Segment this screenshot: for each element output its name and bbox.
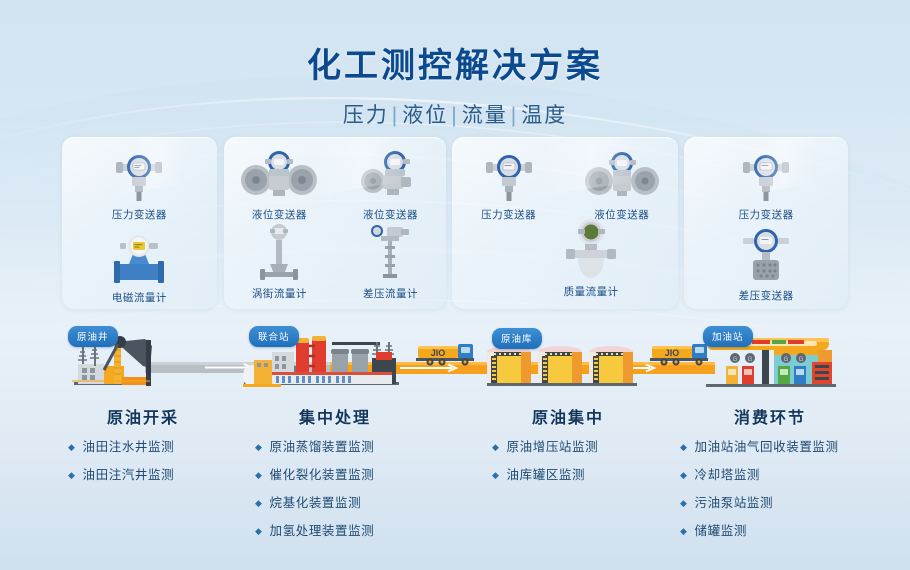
list-item-label: 加氢处理装置监测 [270,524,375,538]
product-label: 涡街流量计 [227,286,331,301]
subtitle-part-flow: 流量 [462,104,508,127]
bullet-marker-icon: ◆ [255,470,263,480]
product-item[interactable]: 液位变送器 [338,147,442,222]
badge-oil-depot: 原油库 [492,328,542,349]
product-label: 差压流量计 [338,286,442,301]
svg-text:G: G [733,357,738,363]
page-subtitle: 压力|液位|流量|温度 [0,99,910,129]
badge-gas-station: 加油站 [703,326,753,347]
process-flow-diagram: JIO [0,322,910,408]
differential-pressure-flowmeter-icon [338,226,442,282]
level-transmitter-flange-icon [570,147,674,203]
product-label: 压力变送器 [87,207,191,222]
pressure-transmitter-icon [87,147,191,203]
bullet-marker-icon: ◆ [680,442,688,452]
stage-title-consumption: 消费环节 [690,404,850,428]
subtitle-part-pressure: 压力 [343,104,389,127]
bullet-list-extraction: ◆油田注水井监测 ◆油田注汽井监测 [68,436,174,492]
differential-pressure-transmitter-icon [714,228,818,284]
svg-text:G: G [748,357,753,363]
bullet-marker-icon: ◆ [680,526,688,536]
list-item-label: 油田注汽井监测 [83,468,175,482]
product-item[interactable]: 电磁流量计 [87,230,191,305]
page-header: 化工测控解决方案 压力|液位|流量|温度 [0,38,910,129]
product-label: 压力变送器 [714,207,818,222]
bullet-marker-icon: ◆ [492,470,500,480]
product-item[interactable]: 压力变送器 [714,147,818,222]
product-label: 电磁流量计 [87,290,191,305]
list-item-label: 原油增压站监测 [507,440,599,454]
mass-flowmeter-icon [539,224,643,280]
svg-text:G: G [799,357,804,363]
bullet-list-storage: ◆原油增压站监测 ◆油库罐区监测 [492,436,598,492]
bullet-marker-icon: ◆ [255,442,263,452]
list-item-label: 污油泵站监测 [695,496,774,510]
list-item: ◆冷却塔监测 [680,464,839,483]
product-label: 差压变送器 [714,288,818,303]
product-item[interactable]: 液位变送器 [227,147,331,222]
list-item-label: 催化裂化装置监测 [270,468,375,482]
product-item[interactable]: 压力变送器 [87,147,191,222]
product-card-3[interactable]: 压力变送器 [452,137,678,309]
list-item-label: 储罐监测 [695,524,747,538]
list-item-label: 烷基化装置监测 [270,496,362,510]
page-title: 化工测控解决方案 [0,38,910,87]
subtitle-separator: | [392,104,399,127]
list-item: ◆原油蒸馏装置监测 [255,436,374,455]
badge-oil-well: 原油井 [68,326,118,347]
bullet-marker-icon: ◆ [680,498,688,508]
truck-label: JIO [431,348,446,358]
electromagnetic-flowmeter-icon [87,230,191,286]
product-card-1[interactable]: 压力变送器 [62,137,217,309]
bullet-marker-icon: ◆ [255,498,263,508]
bullet-list-processing: ◆原油蒸馏装置监测 ◆催化裂化装置监测 ◆烷基化装置监测 ◆加氢处理装置监测 [255,436,374,548]
stage-title-extraction: 原油开采 [68,404,218,428]
product-item[interactable]: 液位变送器 [570,147,674,222]
product-label: 压力变送器 [457,207,561,222]
tank-farm-illustration [487,346,637,386]
list-item-label: 加油站油气回收装置监测 [695,440,839,454]
list-item-label: 油库罐区监测 [507,468,586,482]
stage-title-storage: 原油集中 [488,404,648,428]
product-label: 质量流量计 [539,284,643,299]
badge-joint-station: 联合站 [249,326,299,347]
list-item: ◆催化裂化装置监测 [255,464,374,483]
list-item: ◆加油站油气回收装置监测 [680,436,839,455]
list-item: ◆原油增压站监测 [492,436,598,455]
product-item[interactable]: 质量流量计 [539,224,643,299]
list-item: ◆烷基化装置监测 [255,492,374,511]
list-item-label: 油田注水井监测 [83,440,175,454]
truck-label: JIO [665,348,680,358]
svg-text:G: G [784,357,789,363]
level-transmitter-single-icon [338,147,442,203]
bullet-list-consumption: ◆加油站油气回收装置监测 ◆冷却塔监测 ◆污油泵站监测 ◆储罐监测 [680,436,839,548]
bullet-marker-icon: ◆ [68,470,76,480]
subtitle-part-temperature: 温度 [521,104,567,127]
product-label: 液位变送器 [338,207,442,222]
list-item: ◆污油泵站监测 [680,492,839,511]
bullet-marker-icon: ◆ [255,526,263,536]
vortex-flowmeter-icon [227,226,331,282]
product-label: 液位变送器 [227,207,331,222]
subtitle-separator: | [451,104,458,127]
product-item[interactable]: 差压流量计 [338,226,442,301]
bullet-marker-icon: ◆ [68,442,76,452]
list-item: ◆加氢处理装置监测 [255,520,374,539]
product-card-4[interactable]: 压力变送器 [684,137,848,309]
product-card-row: 压力变送器 [62,137,848,309]
subtitle-part-level: 液位 [402,104,448,127]
product-item[interactable]: 涡街流量计 [227,226,331,301]
bullet-marker-icon: ◆ [680,470,688,480]
pressure-transmitter-icon [457,147,561,203]
list-item-label: 原油蒸馏装置监测 [270,440,375,454]
list-item: ◆油田注汽井监测 [68,464,174,483]
product-item[interactable]: 压力变送器 [457,147,561,222]
list-item-label: 冷却塔监测 [695,468,761,482]
product-card-2[interactable]: 液位变送器 [224,137,446,309]
bullet-marker-icon: ◆ [492,442,500,452]
pressure-transmitter-icon [714,147,818,203]
stage-title-processing: 集中处理 [255,404,415,428]
product-item[interactable]: 差压变送器 [714,228,818,303]
list-item: ◆储罐监测 [680,520,839,539]
level-transmitter-flange-icon [227,147,331,203]
list-item: ◆油库罐区监测 [492,464,598,483]
subtitle-separator: | [511,104,518,127]
list-item: ◆油田注水井监测 [68,436,174,455]
